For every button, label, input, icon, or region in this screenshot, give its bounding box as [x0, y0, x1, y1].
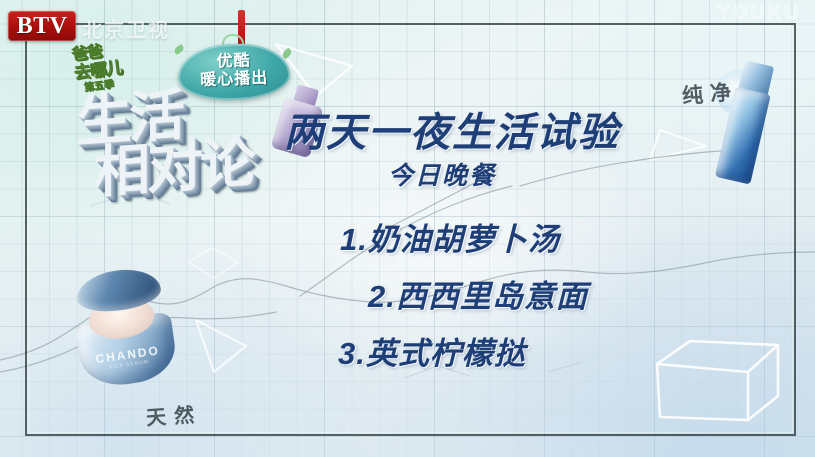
list-item: 1.奶油胡萝卜汤	[340, 214, 560, 259]
btv-logo: BTV	[8, 11, 76, 41]
menu-index-2: 2.	[368, 279, 396, 314]
menu-dish-1: 奶油胡萝卜汤	[368, 222, 560, 257]
sponsor-label-natural: 天然	[145, 398, 203, 431]
program-3d-title-row2: 相对论	[94, 135, 256, 198]
list-item: 3.英式柠檬挞	[338, 328, 526, 373]
menu-index-1: 1.	[340, 222, 368, 257]
program-logo-cluster: 爸爸 去哪儿 第五季 优酷 暖心播出 生活 相对论	[70, 38, 260, 203]
menu-index-3: 3.	[338, 336, 366, 371]
page-title: 两天一夜生活试验	[284, 100, 620, 158]
signboard-line1: 优酷	[216, 54, 251, 72]
cream-jar-product: CHANDO SILK SERUM	[60, 263, 187, 395]
menu-dish-3: 英式柠檬挞	[366, 336, 526, 371]
btv-logo-text: BTV	[17, 14, 68, 38]
menu-dish-2: 西西里岛意面	[396, 279, 588, 314]
list-item: 2.西西里岛意面	[368, 271, 588, 316]
program-3d-title: 生活 相对论	[76, 84, 256, 209]
page-subtitle: 今日晚餐	[388, 156, 496, 192]
broadcast-frame: BTV 北京卫视 YOUKU 爸爸 去哪儿 第五季 优酷 暖心播出 生活 相对论…	[0, 0, 815, 457]
youku-watermark: YOUKU	[717, 3, 801, 25]
sponsor-label-pure: 纯净	[681, 76, 739, 111]
leaf-icon-left	[173, 44, 185, 55]
